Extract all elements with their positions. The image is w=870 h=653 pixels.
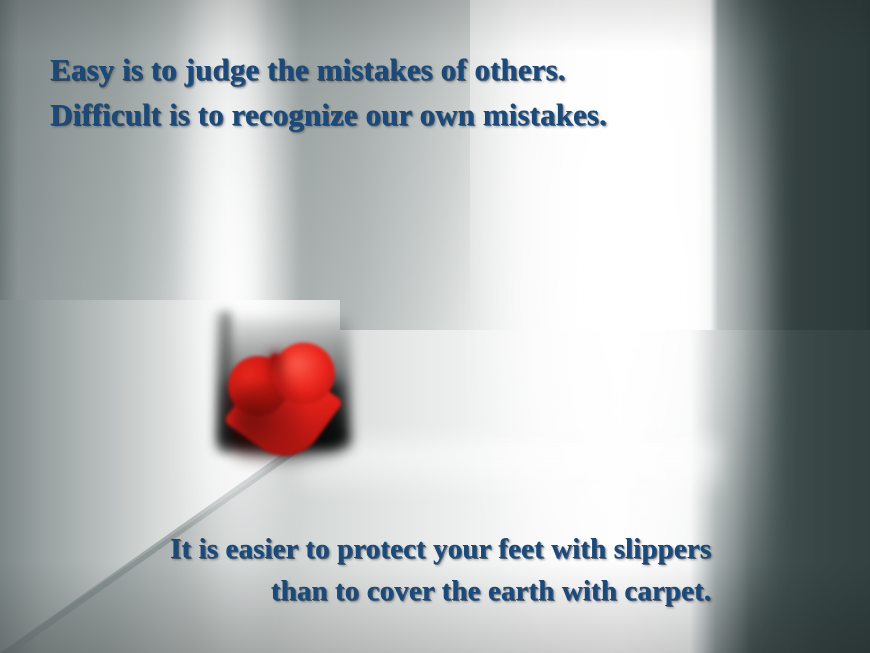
- top-quote-line-2: Difficult is to recognize our own mistak…: [50, 93, 607, 138]
- bottom-quote-text: It is easier to protect your feet with s…: [170, 528, 711, 612]
- floor-ledge-highlight: [300, 430, 720, 490]
- red-heart: [220, 332, 348, 460]
- bottom-quote-line-2: than to cover the earth with carpet.: [170, 570, 711, 612]
- bottom-quote-line-1: It is easier to protect your feet with s…: [170, 528, 711, 570]
- top-quote-line-1: Easy is to judge the mistakes of others.: [50, 48, 607, 93]
- heart-lower-left-shading: [226, 380, 306, 460]
- quote-image-canvas: Easy is to judge the mistakes of others.…: [0, 0, 870, 653]
- top-quote-text: Easy is to judge the mistakes of others.…: [50, 48, 607, 138]
